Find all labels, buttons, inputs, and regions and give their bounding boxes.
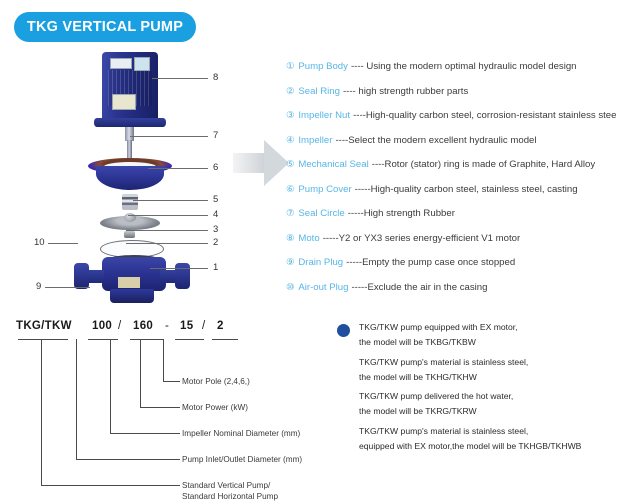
legend-number-icon: ⑧ bbox=[286, 232, 294, 244]
legend-item: ⑩ Air-out Plug -----Exclude the air in t… bbox=[286, 281, 616, 294]
legend-part-name: Pump Cover bbox=[298, 184, 351, 196]
legend-item: ③ Impeller Nut ----High-quality carbon s… bbox=[286, 109, 616, 122]
label-motor-pole: Motor Pole (2,4,6,) bbox=[182, 376, 250, 387]
motor-label-icon bbox=[134, 57, 150, 71]
code-separator-dash: - bbox=[165, 320, 169, 332]
code-impeller-diameter: 160 bbox=[133, 320, 153, 332]
legend-description: ----Select the modern excellent hydrauli… bbox=[335, 135, 536, 147]
code-motor-power: 15 bbox=[180, 320, 193, 332]
note-line: TKG/TKW pump equipped with EX motor, bbox=[337, 322, 617, 332]
legend-part-name: Moto bbox=[298, 233, 319, 245]
legend-description: ---- high strength rubber parts bbox=[343, 86, 468, 98]
callout-line-8 bbox=[152, 78, 208, 79]
note-line: TKG/TKW pump's material is stainless ste… bbox=[337, 357, 617, 367]
legend-item: ④ Impeller ----Select the modern excelle… bbox=[286, 134, 616, 147]
callout-number-7: 7 bbox=[213, 130, 218, 141]
code-separator-slash-1: / bbox=[118, 320, 121, 332]
legend-number-icon: ⑥ bbox=[286, 183, 294, 195]
legend-number-icon: ⑤ bbox=[286, 158, 294, 170]
legend-description: ----Rotor (stator) ring is made of Graph… bbox=[372, 159, 595, 171]
label-impeller-diameter: Impeller Nominal Diameter (mm) bbox=[182, 428, 300, 439]
page-title-pill: TKG VERTICAL PUMP bbox=[14, 12, 196, 42]
label-motor-power: Motor Power (kW) bbox=[182, 402, 248, 413]
code-inlet-diameter: 100 bbox=[92, 320, 112, 332]
note-line: TKG/TKW pump's material is stainless ste… bbox=[337, 426, 617, 436]
drain-plug-icon bbox=[110, 289, 154, 303]
code-motor-pole: 2 bbox=[217, 320, 224, 332]
legend-number-icon: ① bbox=[286, 60, 294, 72]
legend-number-icon: ⑨ bbox=[286, 256, 294, 268]
motor-nameplate-icon bbox=[110, 58, 132, 69]
callout-number-8: 8 bbox=[213, 72, 218, 83]
pump-body-icon bbox=[62, 253, 202, 305]
note-line: TKG/TKW pump delivered the hot water, bbox=[337, 391, 617, 401]
legend-number-icon: ④ bbox=[286, 134, 294, 146]
model-code-breakdown: TKG/TKW 100 / 160 - 15 / 2 Motor Pole (2… bbox=[0, 312, 330, 500]
legend-item: ⑤ Mechanical Seal ----Rotor (stator) rin… bbox=[286, 158, 616, 171]
legend-part-name: Impeller Nut bbox=[298, 110, 350, 122]
note-line: equipped with EX motor,the model will be… bbox=[337, 441, 617, 451]
legend-description: ---- Using the modern optimal hydraulic … bbox=[351, 61, 577, 73]
legend-description: -----High-quality carbon steel, stainles… bbox=[355, 184, 578, 196]
note-line: the model will be TKHG/TKHW bbox=[337, 372, 617, 382]
callout-number-2: 2 bbox=[213, 237, 218, 248]
code-separator-slash-2: / bbox=[202, 320, 205, 332]
motor-base-icon bbox=[94, 118, 166, 127]
legend-part-name: Seal Ring bbox=[298, 86, 340, 98]
callout-number-1: 1 bbox=[213, 262, 218, 273]
callout-line-9 bbox=[45, 287, 90, 288]
legend-part-name: Impeller bbox=[298, 135, 332, 147]
arrow-right-icon bbox=[233, 140, 291, 188]
parts-legend-list: ① Pump Body ---- Using the modern optima… bbox=[286, 60, 616, 305]
callout-number-3: 3 bbox=[213, 224, 218, 235]
callout-number-5: 5 bbox=[213, 194, 218, 205]
legend-part-name: Mechanical Seal bbox=[298, 159, 368, 171]
legend-item: ① Pump Body ---- Using the modern optima… bbox=[286, 60, 616, 73]
legend-number-icon: ② bbox=[286, 85, 294, 97]
legend-item: ⑦ Seal Circle -----High strength Rubber bbox=[286, 207, 616, 220]
callout-line-2 bbox=[126, 243, 208, 244]
note-line: the model will be TKBG/TKBW bbox=[337, 337, 617, 347]
label-inlet-diameter: Pump Inlet/Outlet Diameter (mm) bbox=[182, 454, 302, 465]
callout-line-10 bbox=[48, 243, 78, 244]
legend-item: ⑥ Pump Cover -----High-quality carbon st… bbox=[286, 183, 616, 196]
legend-number-icon: ③ bbox=[286, 109, 294, 121]
legend-part-name: Drain Plug bbox=[298, 257, 343, 269]
motor-terminal-box-icon bbox=[112, 94, 136, 110]
code-series: TKG/TKW bbox=[16, 320, 72, 332]
callout-line-1 bbox=[150, 268, 208, 269]
label-series-line1: Standard Vertical Pump/ bbox=[182, 480, 270, 491]
impeller-nut-icon bbox=[124, 231, 135, 238]
callout-number-6: 6 bbox=[213, 162, 218, 173]
bullet-dot-icon bbox=[337, 324, 350, 337]
legend-part-name: Air-out Plug bbox=[298, 282, 348, 294]
variant-notes: TKG/TKW pump equipped with EX motor, the… bbox=[337, 322, 617, 460]
legend-part-name: Pump Body bbox=[298, 61, 348, 73]
callout-line-7 bbox=[130, 136, 208, 137]
pump-cover-icon bbox=[88, 158, 172, 192]
legend-number-icon: ⑩ bbox=[286, 281, 294, 293]
inlet-flange-icon bbox=[74, 263, 89, 289]
page-title: TKG VERTICAL PUMP bbox=[27, 19, 183, 35]
callout-number-4: 4 bbox=[213, 209, 218, 220]
legend-number-icon: ⑦ bbox=[286, 207, 294, 219]
casing-nameplate-icon bbox=[118, 277, 140, 288]
legend-description: -----Exclude the air in the casing bbox=[351, 282, 487, 294]
legend-description: -----Empty the pump case once stopped bbox=[346, 257, 515, 269]
legend-item: ⑨ Drain Plug -----Empty the pump case on… bbox=[286, 256, 616, 269]
callout-line-4 bbox=[128, 215, 208, 216]
callout-number-10: 10 bbox=[34, 237, 45, 248]
callout-line-3 bbox=[126, 230, 208, 231]
legend-description: ----High-quality carbon steel, corrosion… bbox=[353, 110, 617, 122]
legend-description: -----Y2 or YX3 series energy-efficient V… bbox=[323, 233, 520, 245]
mechanical-seal-icon bbox=[122, 194, 138, 210]
callout-number-9: 9 bbox=[36, 281, 41, 292]
legend-item: ⑧ Moto -----Y2 or YX3 series energy-effi… bbox=[286, 232, 616, 245]
legend-description: -----High strength Rubber bbox=[348, 208, 455, 220]
callout-line-5 bbox=[133, 200, 208, 201]
note-line: the model will be TKRG/TKRW bbox=[337, 406, 617, 416]
shaft-upper-icon bbox=[125, 127, 134, 141]
shaft-lower-icon bbox=[127, 140, 132, 158]
outlet-flange-icon bbox=[175, 263, 190, 289]
legend-item: ② Seal Ring ---- high strength rubber pa… bbox=[286, 85, 616, 98]
legend-part-name: Seal Circle bbox=[298, 208, 344, 220]
label-series-line2: Standard Horizontal Pump bbox=[182, 491, 278, 502]
callout-line-6 bbox=[148, 168, 208, 169]
